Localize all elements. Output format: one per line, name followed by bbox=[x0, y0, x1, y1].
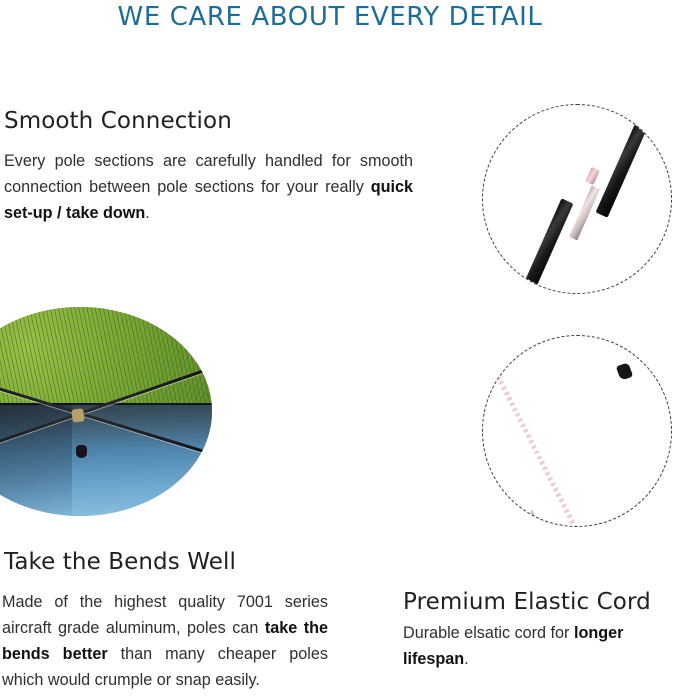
section-heading-take-the-bends-well: Take the Bends Well bbox=[4, 549, 236, 575]
elastic-cord-end-grey bbox=[525, 509, 539, 524]
section-body-smooth-connection: Every pole sections are carefully handle… bbox=[4, 148, 413, 226]
section-heading-premium-elastic-cord: Premium Elastic Cord bbox=[403, 589, 651, 615]
cord-text-tail: . bbox=[464, 650, 469, 668]
page-title: WE CARE ABOUT EVERY DETAIL bbox=[0, 2, 660, 32]
elastic-cord-end-black bbox=[616, 362, 633, 381]
elastic-cord-strand bbox=[485, 354, 578, 527]
pole-ferrule-tip bbox=[585, 167, 600, 185]
smooth-connection-text-tail: . bbox=[145, 204, 150, 222]
section-heading-smooth-connection: Smooth Connection bbox=[4, 108, 232, 134]
smooth-connection-text-lead: Every pole sections are carefully handle… bbox=[4, 152, 413, 196]
pole-section-lower bbox=[518, 198, 574, 294]
section-body-premium-elastic-cord: Durable elsatic cord for longer lifespan… bbox=[403, 620, 675, 672]
elastic-cord-photo bbox=[482, 335, 672, 527]
pole-section-upper bbox=[596, 121, 649, 218]
grass-background bbox=[0, 307, 212, 407]
pole-ferrule bbox=[569, 186, 600, 241]
section-body-take-the-bends-well: Made of the highest quality 7001 series … bbox=[2, 589, 328, 693]
tent-pole-hub bbox=[71, 409, 85, 424]
tent-pole-clip bbox=[76, 445, 87, 458]
pole-connection-photo bbox=[482, 104, 672, 294]
cord-text-lead: Durable elsatic cord for bbox=[403, 624, 574, 642]
tent-crossing-poles-photo bbox=[0, 307, 212, 516]
